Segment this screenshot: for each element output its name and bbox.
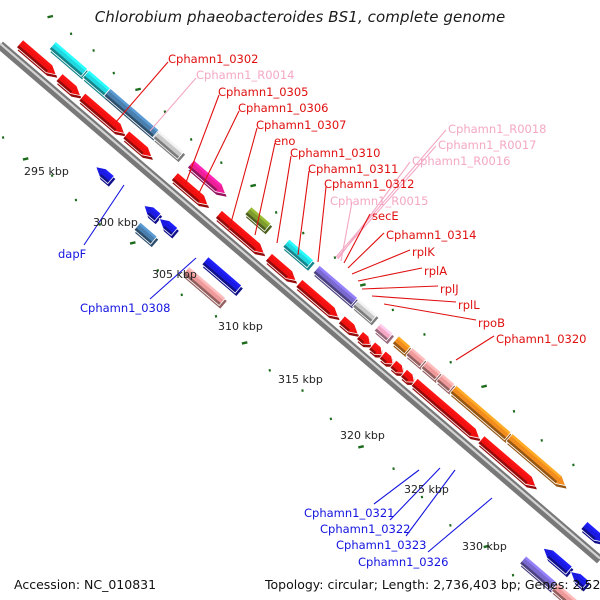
feature-label-cphamn1-0321[interactable]: Cphamn1_0321 bbox=[304, 508, 395, 520]
ruler-tick-label: 325 kbp bbox=[404, 483, 449, 496]
ruler-tick-label: 310 kbp bbox=[218, 320, 263, 333]
ruler-tick-label: 330 kbp bbox=[462, 540, 507, 553]
accession-text: Accession: NC_010831 bbox=[14, 577, 156, 592]
feature-label-cphamn1-r0014[interactable]: Cphamn1_R0014 bbox=[196, 70, 294, 82]
feature-label-dapf[interactable]: dapF bbox=[58, 249, 86, 261]
ruler-tick-label: 300 kbp bbox=[93, 216, 138, 229]
ruler-tick-label: 315 kbp bbox=[278, 373, 323, 386]
feature-label-cphamn1-0311[interactable]: Cphamn1_0311 bbox=[308, 164, 399, 176]
ruler-tick-label: 295 kbp bbox=[24, 165, 69, 178]
feature-label-rpla[interactable]: rplA bbox=[424, 266, 447, 278]
feature-label-cphamn1-0312[interactable]: Cphamn1_0312 bbox=[324, 179, 415, 191]
feature-label-cphamn1-0314[interactable]: Cphamn1_0314 bbox=[386, 230, 477, 242]
feature-label-cphamn1-r0018[interactable]: Cphamn1_R0018 bbox=[448, 124, 546, 136]
genome-map-viewer: Chlorobium phaeobacteroides BS1, complet… bbox=[0, 0, 600, 600]
feature-label-cphamn1-0326[interactable]: Cphamn1_0326 bbox=[358, 557, 449, 569]
feature-label-cphamn1-0322[interactable]: Cphamn1_0322 bbox=[320, 524, 411, 536]
feature-label-rpll[interactable]: rplL bbox=[458, 300, 480, 312]
feature-label-cphamn1-0320[interactable]: Cphamn1_0320 bbox=[496, 334, 587, 346]
feature-label-cphamn1-0302[interactable]: Cphamn1_0302 bbox=[168, 54, 259, 66]
feature-label-cphamn1-0305[interactable]: Cphamn1_0305 bbox=[218, 87, 309, 99]
feature-label-cphamn1-0308[interactable]: Cphamn1_0308 bbox=[80, 303, 171, 315]
topology-summary-text: Topology: circular; Length: 2,736,403 bp… bbox=[265, 577, 600, 592]
feature-label-cphamn1-0306[interactable]: Cphamn1_0306 bbox=[238, 103, 329, 115]
feature-label-cphamn1-0307[interactable]: Cphamn1_0307 bbox=[256, 120, 347, 132]
feature-label-cphamn1-r0017[interactable]: Cphamn1_R0017 bbox=[438, 140, 536, 152]
feature-label-cphamn1-0323[interactable]: Cphamn1_0323 bbox=[336, 540, 427, 552]
feature-label-rplk[interactable]: rplK bbox=[412, 247, 435, 259]
feature-label-cphamn1-0310[interactable]: Cphamn1_0310 bbox=[290, 148, 381, 160]
feature-label-rpob[interactable]: rpoB bbox=[478, 318, 505, 330]
feature-label-cphamn1-r0015[interactable]: Cphamn1_R0015 bbox=[330, 196, 428, 208]
feature-label-sece[interactable]: secE bbox=[372, 211, 399, 223]
ruler-tick-label: 305 kbp bbox=[152, 268, 197, 281]
ruler-tick-label: 320 kbp bbox=[340, 429, 385, 442]
feature-label-rplj[interactable]: rplJ bbox=[440, 284, 459, 296]
feature-label-cphamn1-r0016[interactable]: Cphamn1_R0016 bbox=[412, 156, 510, 168]
